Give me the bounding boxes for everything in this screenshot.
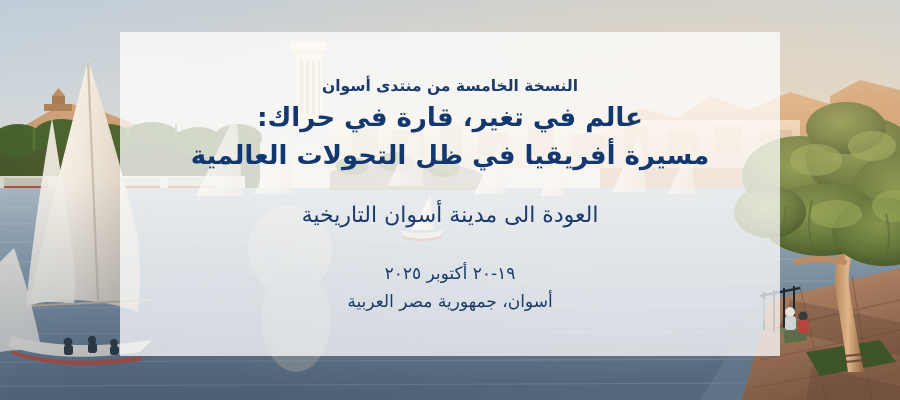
panel-content: النسخة الخامسة من منتدى أسوان عالم في تغ… — [120, 32, 780, 315]
main-title-line-1: عالم في تغير، قارة في حراك: — [257, 100, 643, 137]
event-subtitle: العودة الى مدينة أسوان التاريخية — [302, 201, 599, 232]
forum-edition-eyebrow: النسخة الخامسة من منتدى أسوان — [322, 76, 578, 96]
aswan-forum-banner: النسخة الخامسة من منتدى أسوان عالم في تغ… — [0, 0, 900, 400]
main-title-line-2: مسيرة أفريقيا في ظل التحولات العالمية — [191, 138, 709, 175]
event-location: أسوان، جمهورية مصر العربية — [347, 290, 552, 315]
text-overlay-panel: النسخة الخامسة من منتدى أسوان عالم في تغ… — [120, 32, 780, 356]
event-date: ١٩-٢٠ أكتوبر ٢٠٢٥ — [385, 262, 516, 287]
